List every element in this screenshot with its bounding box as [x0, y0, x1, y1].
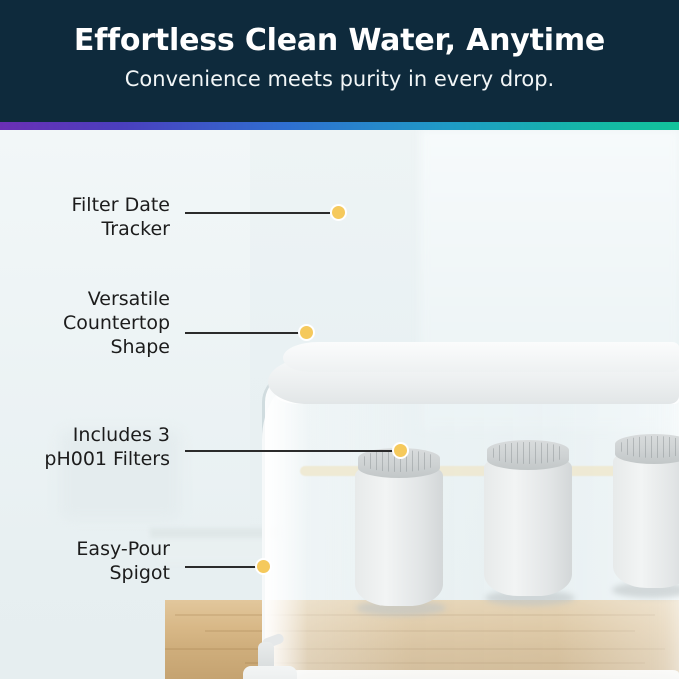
callout-dot-includes-3-ph001-filters: [392, 442, 409, 459]
dispenser-base: [275, 670, 679, 679]
page-subtitle: Convenience meets purity in every drop.: [0, 59, 679, 91]
product-photo: Filter Date Tracker Versatile Countertop…: [0, 130, 679, 679]
callout-dot-versatile-countertop-shape: [298, 324, 315, 341]
callout-label-easy-pour-spigot: Easy-Pour Spigot: [20, 538, 170, 586]
callout-leader-line: [185, 212, 330, 214]
background-shelf-blur: [160, 534, 270, 562]
callout-leader-line: [185, 332, 300, 334]
background-shelf: [150, 528, 280, 538]
callout-label-filter-date-tracker: Filter Date Tracker: [30, 194, 170, 242]
dispenser-tank-highlight: [262, 380, 308, 679]
dispenser-lid-top: [283, 342, 679, 372]
gradient-accent-bar: [0, 122, 679, 130]
callout-leader-line: [185, 450, 395, 452]
product-infographic: Effortless Clean Water, Anytime Convenie…: [0, 0, 679, 679]
callout-label-includes-3-ph001-filters: Includes 3 pH001 Filters: [20, 424, 170, 472]
callout-dot-filter-date-tracker: [330, 204, 347, 221]
callout-label-versatile-countertop-shape: Versatile Countertop Shape: [20, 288, 170, 359]
page-title: Effortless Clean Water, Anytime: [0, 0, 679, 59]
spigot-body: [243, 666, 297, 679]
header-banner: Effortless Clean Water, Anytime Convenie…: [0, 0, 679, 122]
callout-leader-line: [185, 566, 257, 568]
callout-dot-easy-pour-spigot: [255, 558, 272, 575]
